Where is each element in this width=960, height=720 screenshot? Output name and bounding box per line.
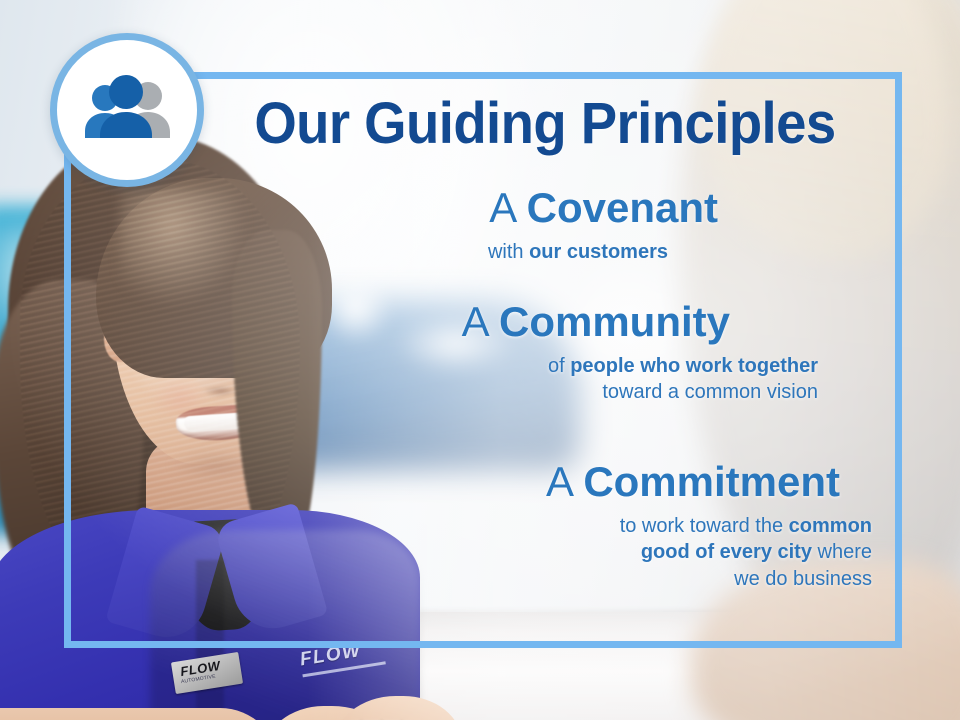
principle-body: with our customers bbox=[0, 239, 960, 266]
principle-title: A Covenant bbox=[0, 186, 960, 231]
principle-covenant: A Covenant with our customers bbox=[0, 186, 960, 265]
principle-body: to work toward the commongood of every c… bbox=[0, 513, 960, 593]
principle-title: A Commitment bbox=[0, 460, 960, 505]
principle-community: A Community of people who work togethert… bbox=[0, 300, 960, 406]
principle-body: of people who work togethertoward a comm… bbox=[0, 353, 960, 407]
principle-title: A Community bbox=[0, 300, 960, 345]
principle-commitment: A Commitment to work toward the commongo… bbox=[0, 460, 960, 593]
page-title: Our Guiding Principles bbox=[225, 94, 864, 153]
text-overlay: Our Guiding Principles A Covenant with o… bbox=[0, 0, 960, 720]
guiding-principles-banner: FLOW FLOW AUTOMOTIVE bbox=[0, 0, 960, 720]
